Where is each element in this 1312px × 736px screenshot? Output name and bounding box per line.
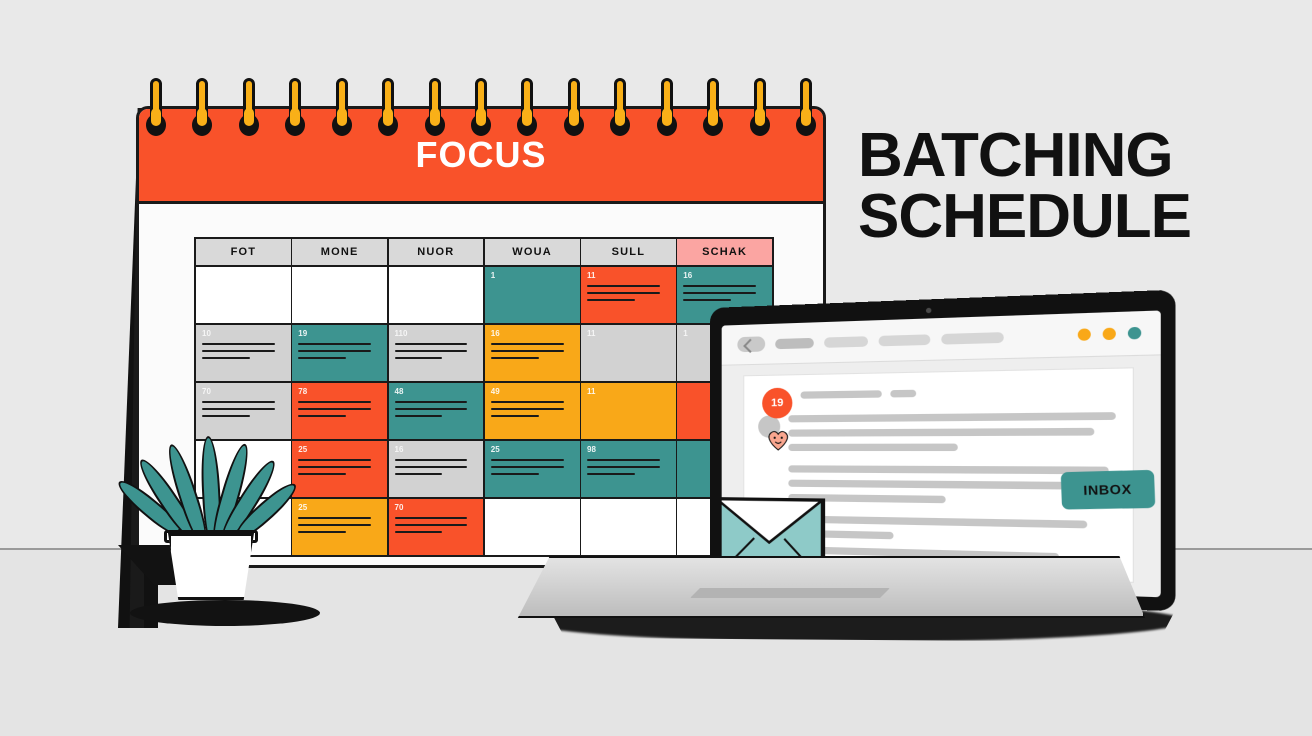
event-line: [298, 466, 371, 468]
toolbar-pill[interactable]: [941, 332, 1004, 345]
day-number: 25: [298, 504, 381, 512]
spiral-binding: [136, 78, 826, 138]
event-line: [683, 292, 756, 294]
toolbar-pill[interactable]: [879, 334, 931, 346]
text-placeholder: [788, 480, 1066, 490]
ring-wire-front: [755, 108, 765, 126]
laptop-screen: 19: [722, 310, 1161, 597]
ring-wire-front: [662, 108, 672, 126]
ring-wire-front: [476, 108, 486, 126]
day-number: 25: [298, 446, 381, 454]
calendar-cell[interactable]: 25: [292, 441, 387, 498]
day-header-mone: MONE: [292, 239, 387, 265]
day-header-sull: SULL: [581, 239, 676, 265]
event-line: [298, 415, 346, 417]
status-dot[interactable]: [1078, 328, 1091, 341]
day-header-woua: WOUA: [485, 239, 580, 265]
calendar-cell[interactable]: [196, 267, 291, 324]
calendar-title: FOCUS: [416, 134, 547, 176]
event-line: [298, 524, 371, 526]
status-dot[interactable]: [1128, 327, 1141, 340]
calendar-cell[interactable]: 25: [292, 499, 387, 556]
event-line: [587, 285, 660, 287]
text-placeholder: [788, 428, 1094, 437]
text-placeholder: [801, 390, 882, 398]
event-line: [298, 473, 346, 475]
event-line: [395, 350, 468, 352]
event-line: [587, 292, 660, 294]
calendar-cell[interactable]: 70: [389, 499, 484, 556]
ring-wire-front: [615, 108, 625, 126]
calendar-cell[interactable]: [292, 267, 387, 324]
event-line: [298, 459, 371, 461]
day-number: 70: [395, 504, 478, 512]
spiral-ring: [285, 78, 305, 138]
ring-wire-front: [569, 108, 579, 126]
event-line: [298, 343, 371, 345]
event-line: [202, 343, 275, 345]
ring-wire-front: [151, 108, 161, 126]
event-line: [202, 415, 250, 417]
text-placeholder: [788, 465, 1108, 474]
ring-wire-front: [383, 108, 393, 126]
event-line: [298, 357, 346, 359]
event-line: [395, 415, 443, 417]
event-line: [395, 343, 468, 345]
day-header-schak: SCHAK: [677, 239, 772, 265]
day-number: 10: [202, 330, 285, 338]
illustration-scene: FOCUS FOTMONENUORWOUASULLSCHAK1111610191…: [0, 0, 1312, 736]
ring-wire-front: [801, 108, 811, 126]
page-title: BATCHING SCHEDULE: [858, 126, 1258, 248]
calendar-cell[interactable]: 78: [292, 383, 387, 440]
spiral-ring: [471, 78, 491, 138]
ring-wire-front: [522, 108, 532, 126]
day-number: 16: [683, 272, 766, 280]
spiral-ring: [192, 78, 212, 138]
day-header-nuor: NUOR: [389, 239, 484, 265]
browser-toolbar[interactable]: [722, 310, 1161, 365]
laptop-trackpad: [690, 588, 890, 598]
day-number: 70: [202, 388, 285, 396]
spiral-ring: [610, 78, 630, 138]
day-number: 78: [298, 388, 381, 396]
event-line: [202, 357, 250, 359]
spiral-ring: [517, 78, 537, 138]
event-line: [202, 408, 275, 410]
spiral-ring: [703, 78, 723, 138]
title-line-2: SCHEDULE: [858, 187, 1258, 248]
event-line: [298, 401, 371, 403]
day-header-fot: FOT: [196, 239, 291, 265]
event-line: [395, 357, 443, 359]
text-placeholder: [788, 412, 1116, 422]
event-line: [395, 401, 468, 403]
text-placeholder: [788, 444, 958, 451]
spiral-ring: [239, 78, 259, 138]
event-line: [395, 459, 468, 461]
list-item[interactable]: [786, 386, 1132, 399]
calendar-cell[interactable]: 48: [389, 383, 484, 440]
event-line: [298, 408, 371, 410]
day-number: 19: [298, 330, 381, 338]
spiral-ring: [750, 78, 770, 138]
event-line: [395, 473, 443, 475]
spiral-ring: [657, 78, 677, 138]
status-dot[interactable]: [1103, 328, 1116, 341]
heart-emoji-icon: [766, 429, 790, 451]
event-line: [683, 285, 756, 287]
potted-plant: [140, 420, 290, 600]
laptop-base: [505, 556, 1145, 618]
ring-wire-front: [708, 108, 718, 126]
event-line: [395, 408, 468, 410]
back-arrow-icon[interactable]: [737, 336, 765, 352]
ring-wire-front: [290, 108, 300, 126]
text-placeholder: [890, 390, 916, 398]
event-line: [395, 531, 443, 533]
day-number: 110: [395, 330, 478, 338]
event-line: [202, 401, 275, 403]
inbox-panel: 19: [743, 367, 1134, 583]
day-number: 48: [395, 388, 478, 396]
ring-wire-front: [430, 108, 440, 126]
spiral-ring: [146, 78, 166, 138]
spiral-ring: [796, 78, 816, 138]
notification-badge[interactable]: 19: [762, 388, 792, 419]
plant-shadow: [130, 600, 320, 626]
list-item[interactable]: [744, 412, 1132, 451]
calendar-cell[interactable]: [389, 267, 484, 324]
event-line: [298, 517, 371, 519]
webcam-icon: [926, 308, 931, 314]
event-line: [395, 517, 468, 519]
calendar-cell[interactable]: 16: [389, 441, 484, 498]
text-placeholder: [788, 515, 1087, 528]
event-line: [298, 531, 346, 533]
spiral-ring: [564, 78, 584, 138]
laptop: 19: [505, 300, 1165, 650]
event-line: [395, 524, 468, 526]
event-line: [298, 350, 371, 352]
toolbar-pill[interactable]: [824, 336, 868, 348]
event-line: [202, 350, 275, 352]
ring-wire-front: [244, 108, 254, 126]
calendar-cell[interactable]: 19: [292, 325, 387, 382]
spiral-ring: [425, 78, 445, 138]
inbox-label-badge[interactable]: INBOX: [1061, 470, 1156, 510]
day-number: 16: [395, 446, 478, 454]
calendar-cell[interactable]: 10: [196, 325, 291, 382]
calendar-cell[interactable]: 110: [389, 325, 484, 382]
ring-wire-front: [197, 108, 207, 126]
event-line: [395, 466, 468, 468]
day-number: 11: [587, 272, 670, 280]
ring-wire-front: [337, 108, 347, 126]
day-number: 1: [491, 272, 574, 280]
toolbar-pill[interactable]: [775, 337, 814, 348]
spiral-ring: [378, 78, 398, 138]
plant-pot: [168, 533, 254, 600]
spiral-ring: [332, 78, 352, 138]
title-line-1: BATCHING: [858, 126, 1258, 187]
